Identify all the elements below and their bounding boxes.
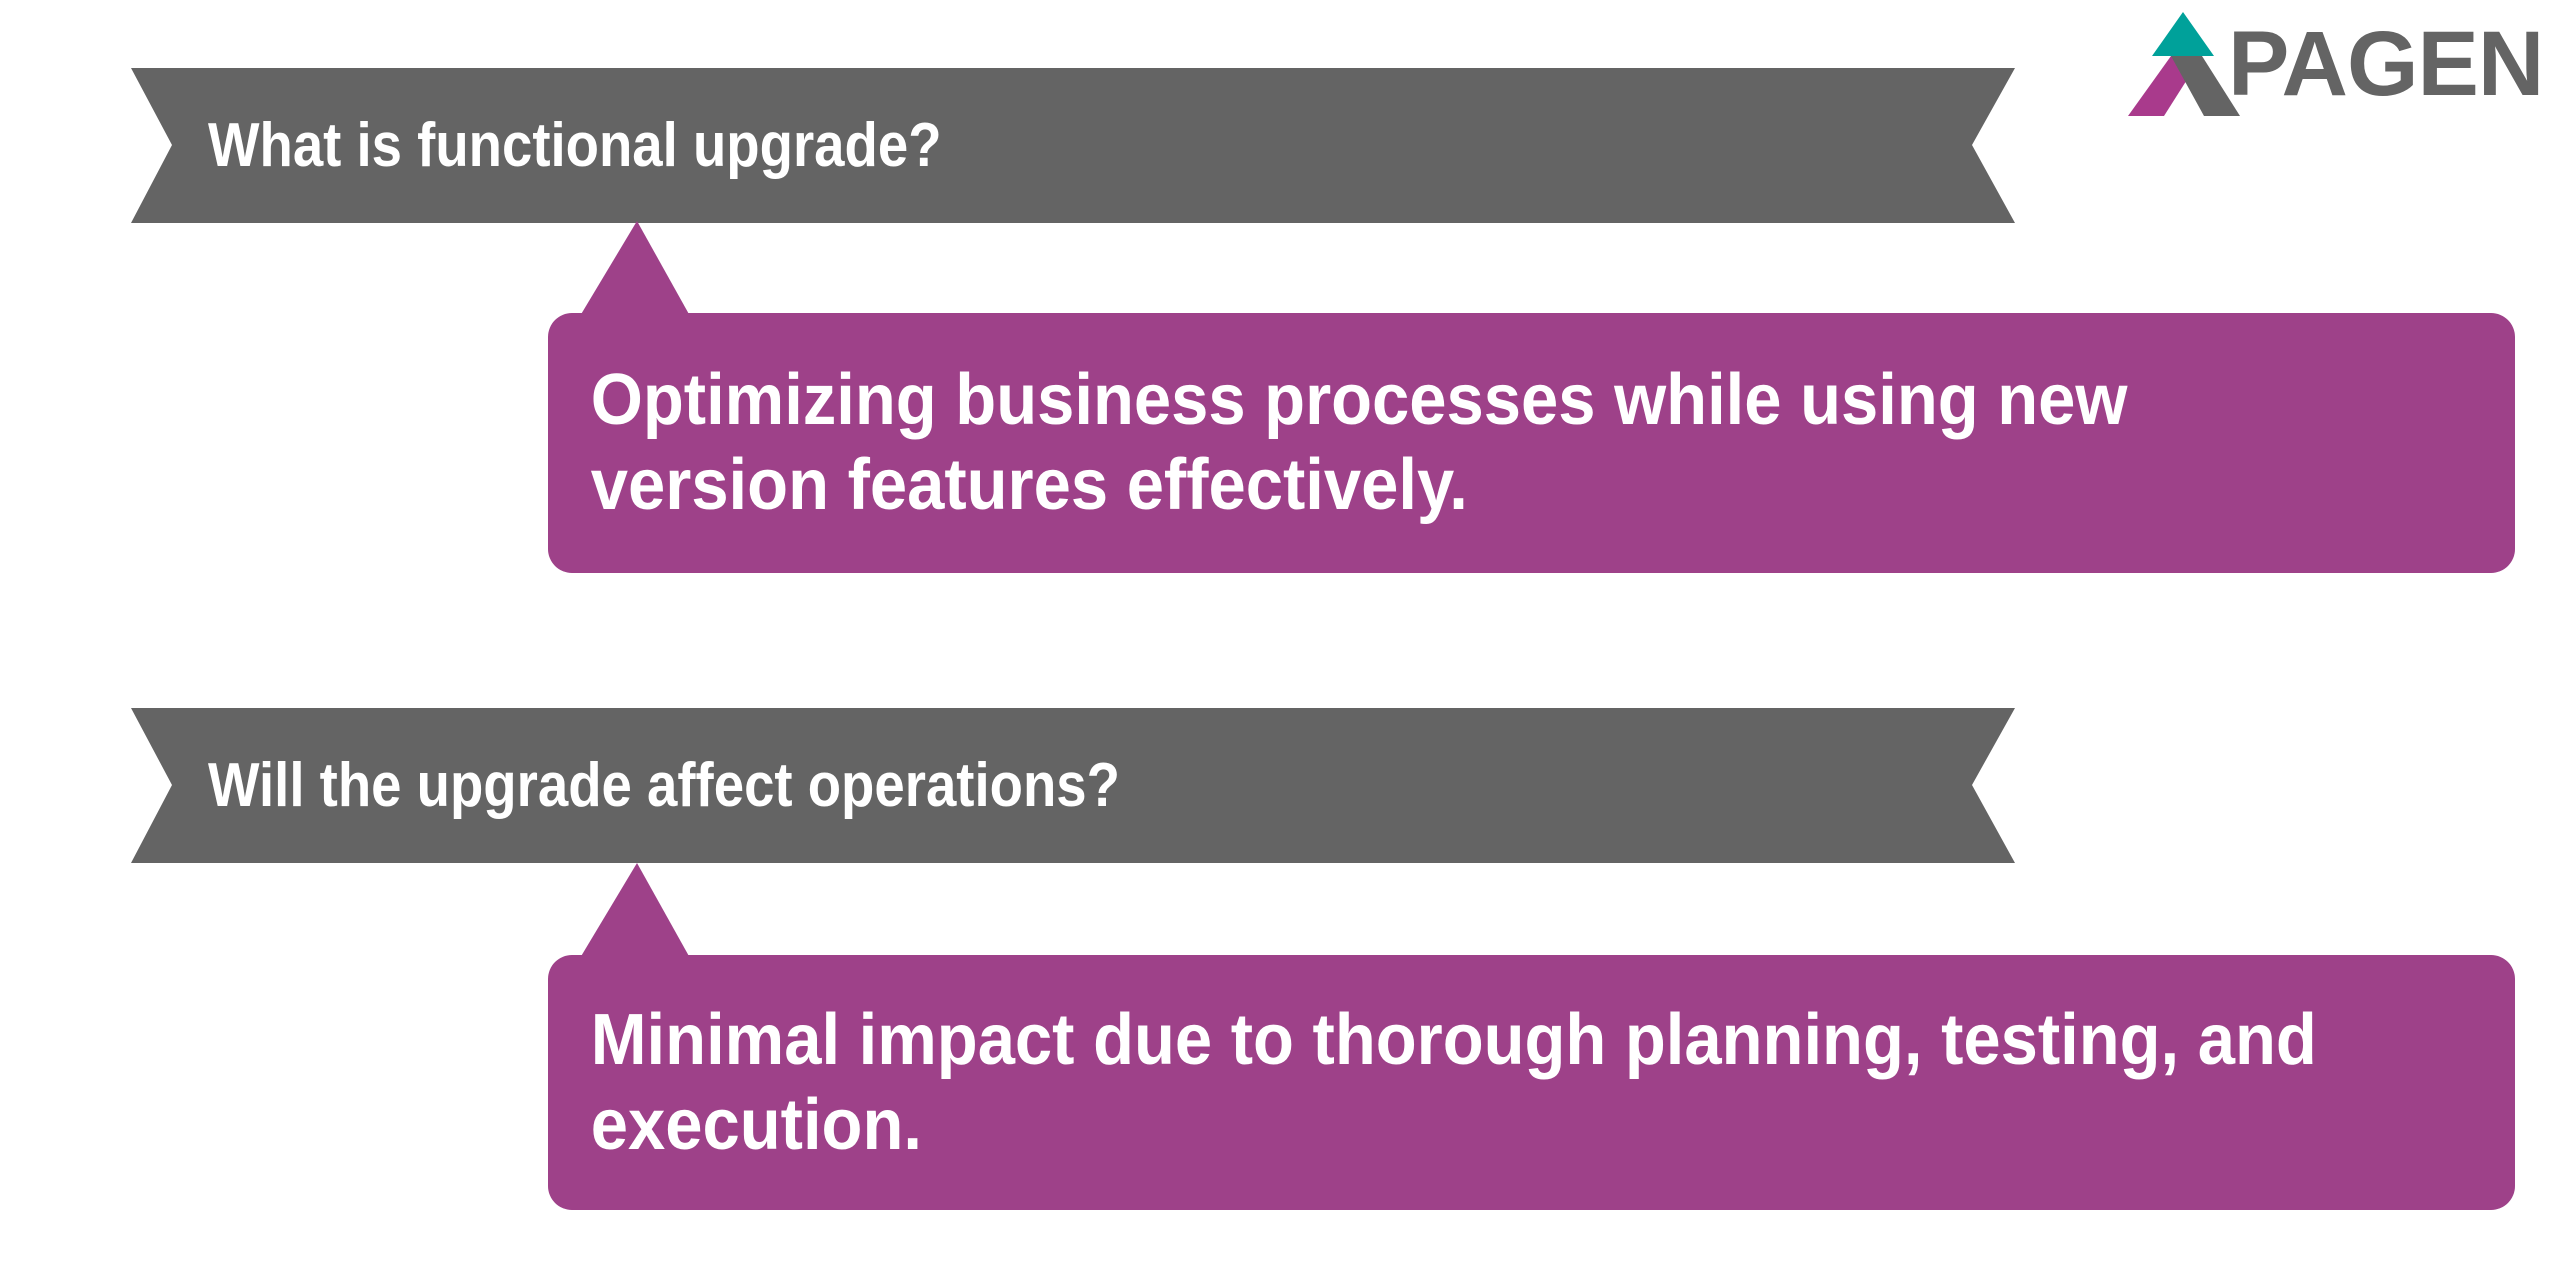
answer-text-1: Optimizing business processes while usin… <box>548 358 2377 528</box>
logo-teal-apex <box>2152 12 2214 56</box>
answer-bubble-2: Minimal impact due to thorough planning,… <box>548 955 2515 1210</box>
question-banner-1: What is functional upgrade? <box>131 68 2015 223</box>
answer-bubble-tail-2 <box>580 863 690 958</box>
question-text-1: What is functional upgrade? <box>208 113 942 178</box>
apagen-wordmark: PAGEN <box>2228 18 2543 110</box>
question-banner-2: Will the upgrade affect operations? <box>131 708 2015 863</box>
answer-text-2: Minimal impact due to thorough planning,… <box>548 998 2377 1168</box>
infographic-canvas: PAGEN What is functional upgrade? Optimi… <box>0 0 2560 1280</box>
answer-bubble-1: Optimizing business processes while usin… <box>548 313 2515 573</box>
answer-bubble-tail-1 <box>580 221 690 316</box>
question-text-2: Will the upgrade affect operations? <box>208 753 1120 818</box>
